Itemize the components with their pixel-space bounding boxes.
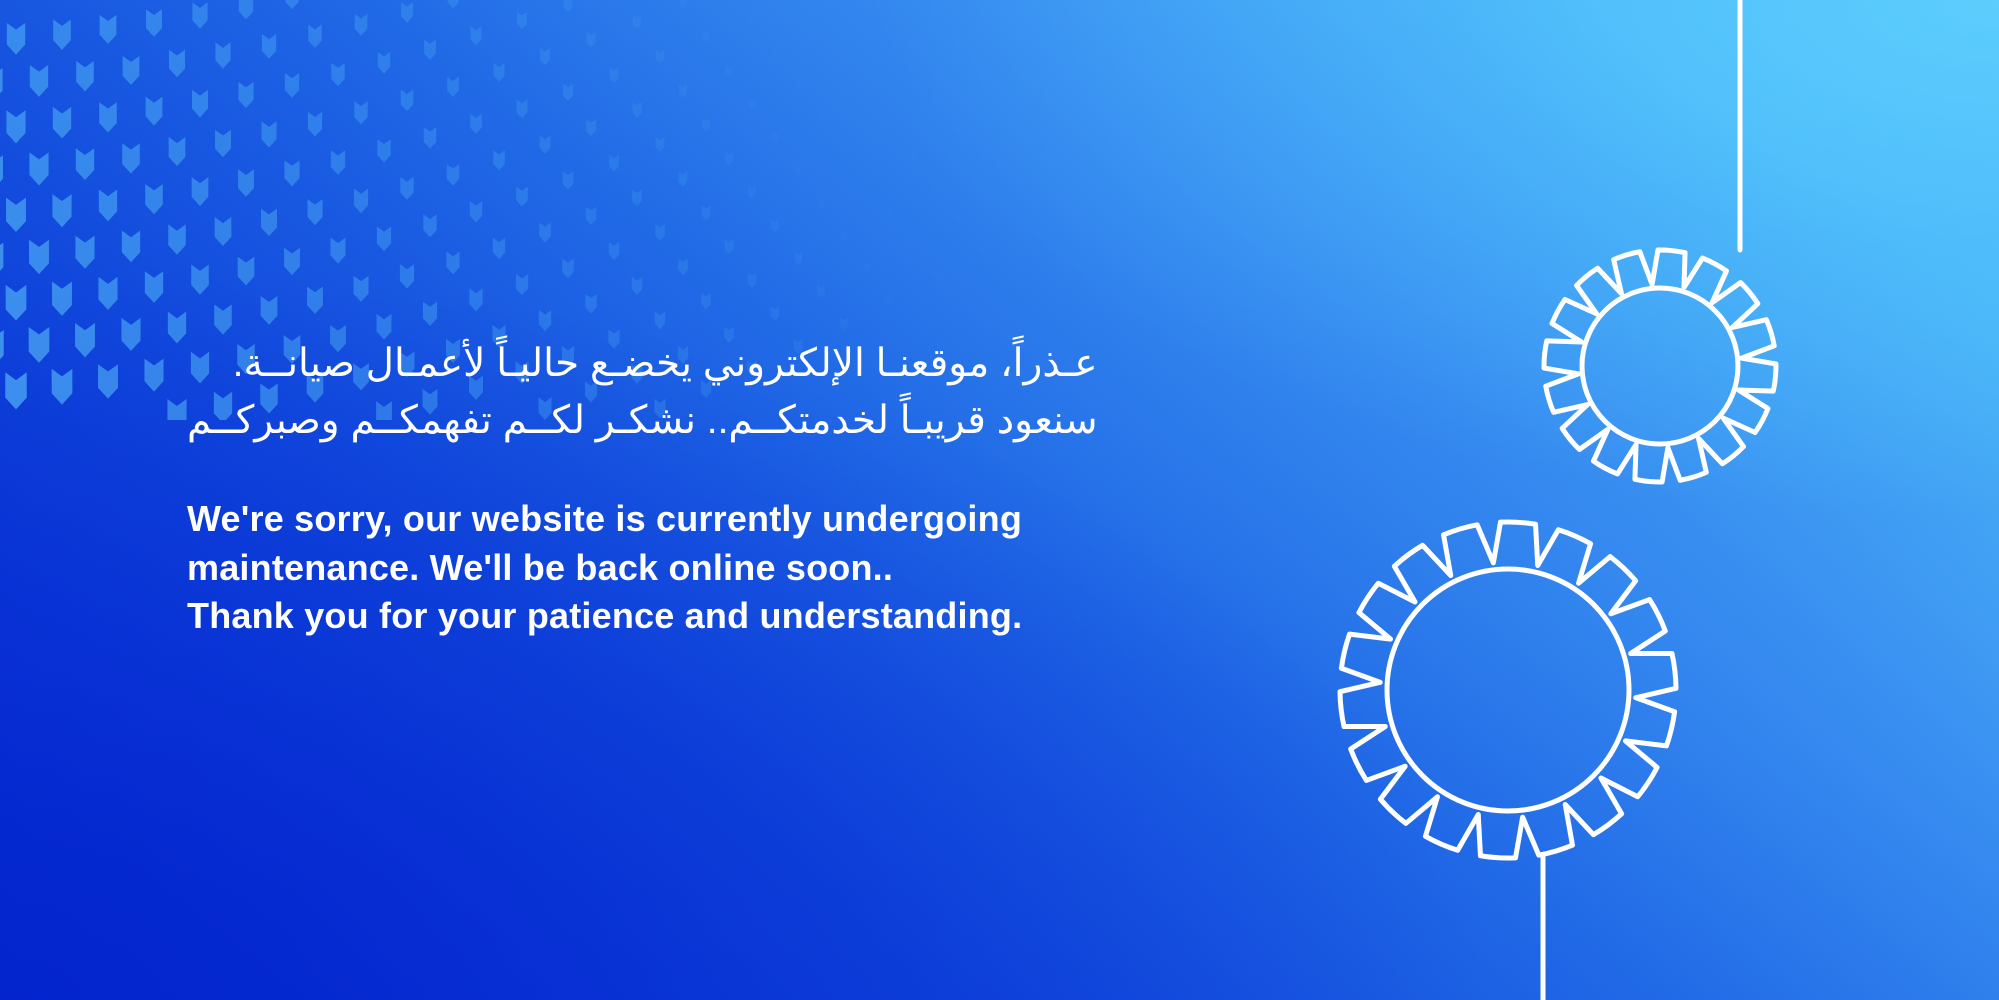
- english-line-2: maintenance. We'll be back online soon..: [187, 544, 1187, 593]
- message-block: عـذراً، موقعنـا الإلكتروني يخضـع حاليـاً…: [187, 336, 1187, 641]
- english-line-3: Thank you for your patience and understa…: [187, 592, 1187, 641]
- arabic-line-1: عـذراً، موقعنـا الإلكتروني يخضـع حاليـاً…: [187, 336, 1098, 393]
- arabic-line-2: سنعود قريبـاً لخدمتكــم.. نشكـر لكــم تف…: [187, 393, 1098, 450]
- maintenance-page: عـذراً، موقعنـا الإلكتروني يخضـع حاليـاً…: [0, 0, 1999, 1000]
- arabic-message: عـذراً، موقعنـا الإلكتروني يخضـع حاليـاً…: [187, 336, 1098, 449]
- english-message: We're sorry, our website is currently un…: [187, 495, 1187, 641]
- english-line-1: We're sorry, our website is currently un…: [187, 495, 1187, 544]
